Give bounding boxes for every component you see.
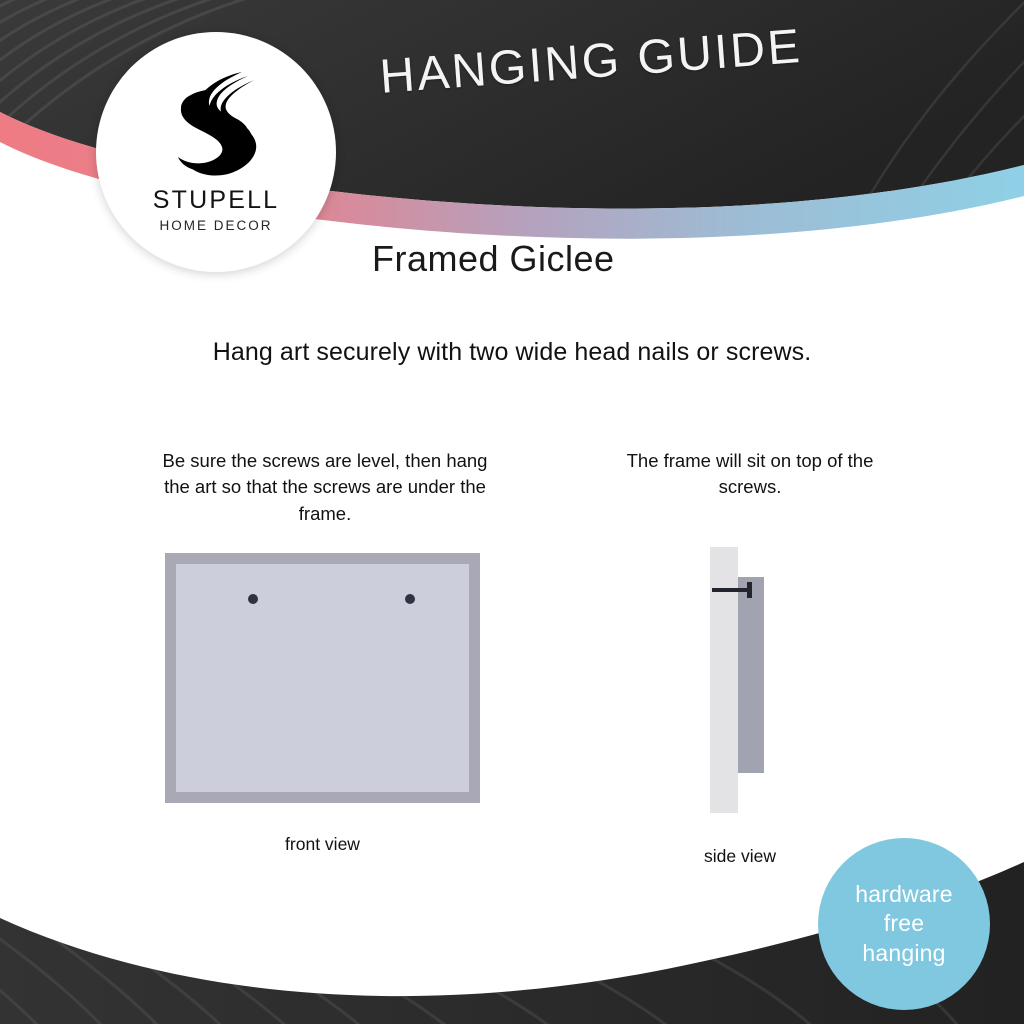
badge-line-1: hardware (855, 880, 953, 909)
brand-logo-badge: STUPELL HOME DECOR (96, 32, 336, 272)
side-view-frame-diagram (700, 547, 780, 813)
wall-bar-shape (710, 547, 738, 813)
frame-bar-shape (738, 577, 764, 773)
brand-name: STUPELL (153, 186, 280, 215)
side-view-label: side view (640, 846, 840, 867)
front-view-frame-diagram (165, 553, 480, 803)
hardware-free-hanging-badge: hardware free hanging (818, 838, 990, 1010)
side-view-caption: The frame will sit on top of the screws. (600, 448, 900, 501)
product-type-label: Framed Giclee (372, 238, 615, 280)
screw-dot-right-icon (405, 594, 415, 604)
badge-line-3: hanging (862, 939, 945, 968)
screw-dot-left-icon (248, 594, 258, 604)
hanging-guide-page: STUPELL HOME DECOR HANGING GUIDE Framed … (0, 0, 1024, 1024)
badge-line-2: free (884, 909, 924, 938)
front-view-label: front view (165, 834, 480, 855)
stupell-swoosh-logo-icon (156, 62, 276, 182)
front-view-caption: Be sure the screws are level, then hang … (150, 448, 500, 527)
nail-head-icon (747, 582, 752, 598)
brand-tagline: HOME DECOR (159, 218, 272, 233)
frame-mat-area (176, 564, 469, 792)
main-instruction-text: Hang art securely with two wide head nai… (0, 338, 1024, 367)
nail-shaft-icon (712, 588, 752, 592)
